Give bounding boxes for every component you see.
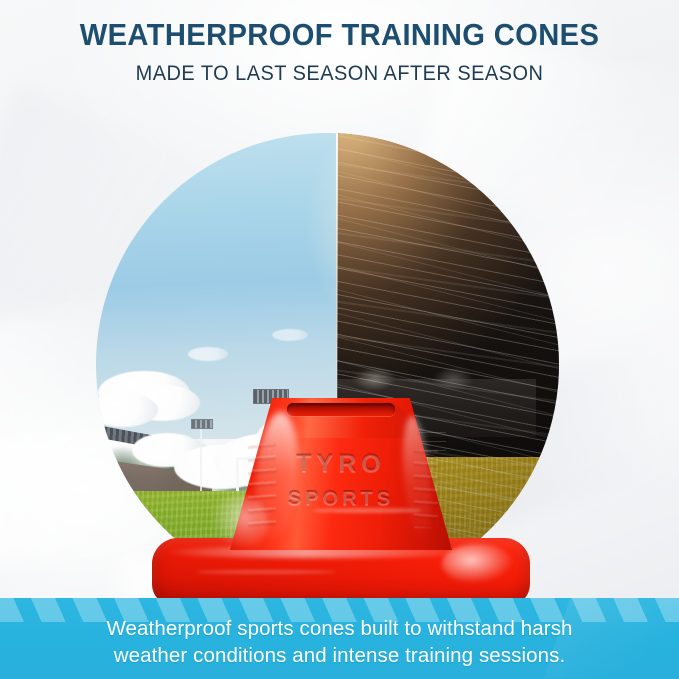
caption-band: Weatherproof sports cones built to withs… (0, 598, 679, 679)
page-title: WEATHERPROOF TRAINING CONES (20, 18, 658, 53)
cone-side-ridges (248, 444, 276, 528)
cone-base-highlight (442, 544, 514, 584)
floodlight-glow (337, 367, 526, 391)
header-block: WEATHERPROOF TRAINING CONES MADE TO LAST… (0, 18, 679, 86)
caption-text: Weatherproof sports cones built to withs… (0, 615, 679, 670)
cone-wet-sheen (196, 570, 336, 574)
cone-top-slot (287, 403, 395, 416)
caption-line-1: Weatherproof sports cones built to withs… (0, 615, 679, 642)
cone-side-ridges (414, 450, 438, 528)
training-cone: TYRO SPORTS (152, 398, 530, 606)
cloud (272, 329, 308, 341)
cone-wet-sheen (312, 508, 422, 513)
page-subtitle: MADE TO LAST SEASON AFTER SEASON (17, 62, 662, 86)
caption-line-2: weather conditions and intense training … (0, 642, 679, 669)
product-marketing-image: WEATHERPROOF TRAINING CONES MADE TO LAST… (0, 0, 679, 679)
cloud (188, 347, 228, 361)
